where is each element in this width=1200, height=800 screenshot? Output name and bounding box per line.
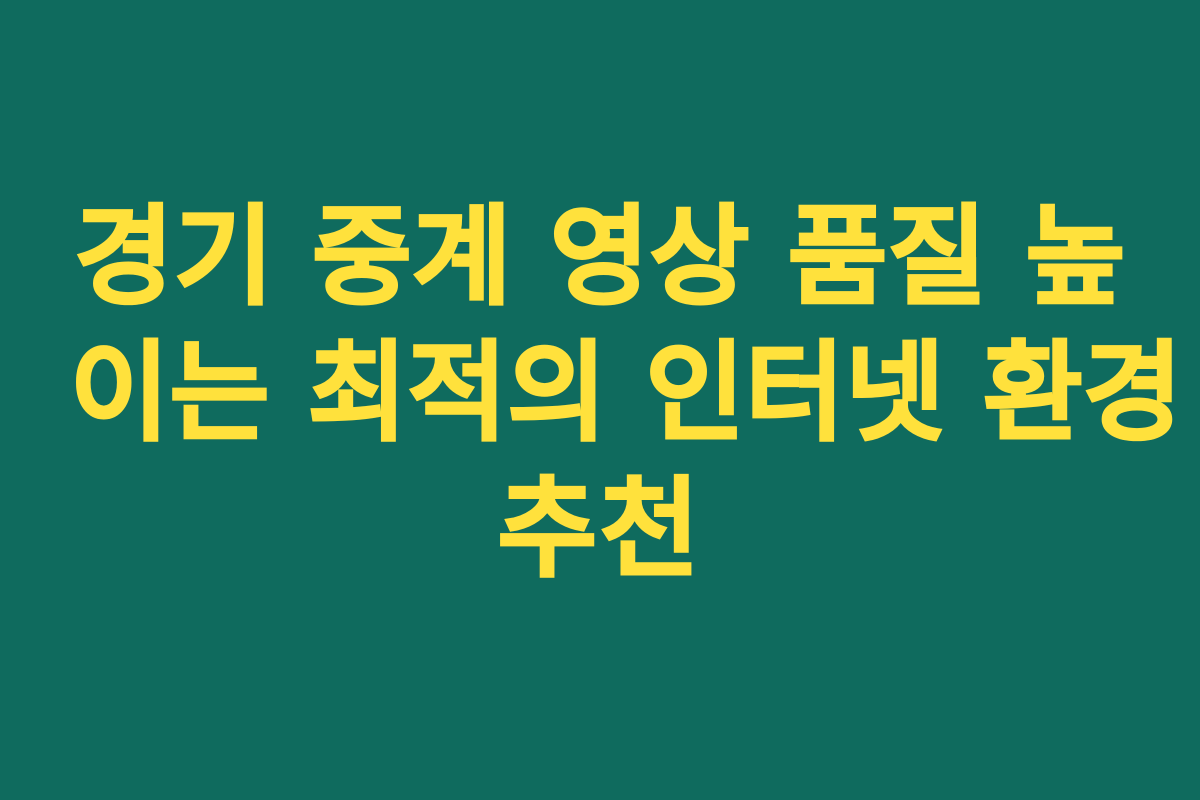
banner-title-line-1: 경기 중계 영상 품질 높 (70, 190, 1130, 326)
banner-title: 경기 중계 영상 품질 높 이는 최적의 인터넷 환경 추천 (70, 190, 1130, 598)
banner-title-line-3: 추천 (70, 462, 1130, 598)
banner-title-line-2: 이는 최적의 인터넷 환경 (70, 326, 1130, 462)
banner-card: 경기 중계 영상 품질 높 이는 최적의 인터넷 환경 추천 (0, 0, 1200, 800)
